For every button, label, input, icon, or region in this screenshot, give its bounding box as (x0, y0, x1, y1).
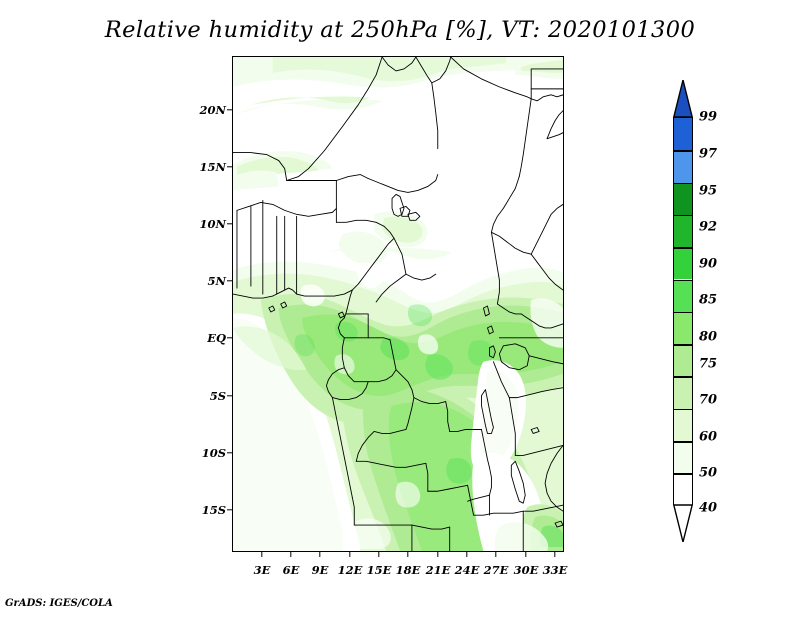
colorbar-separator (674, 150, 692, 152)
x-axis-label-3e: 3E (254, 563, 271, 577)
x-tick (261, 552, 262, 557)
x-tick (466, 552, 467, 557)
y-axis-label-10s: 10S (188, 446, 226, 460)
colorbar-label-50: 50 (699, 466, 717, 481)
x-tick (290, 552, 291, 557)
y-axis-label-15n: 15N (188, 160, 226, 174)
colorbar-band-40-50 (674, 441, 692, 473)
colorbar-separator (674, 247, 692, 249)
y-tick (227, 337, 232, 338)
colorbar-separator (674, 376, 692, 378)
y-axis-label-20n: 20N (188, 103, 226, 117)
country-borders-layer (233, 57, 563, 551)
colorbar-band-below-40 (674, 473, 692, 506)
colorbar-band-90-92 (674, 215, 692, 247)
x-axis-label-12e: 12E (338, 563, 363, 577)
x-axis-label-24e: 24E (455, 563, 480, 577)
colorbar-label-95: 95 (699, 184, 717, 199)
colorbar-band-70-75 (674, 344, 692, 376)
colorbar-separator (674, 280, 692, 282)
colorbar-band-60-70 (674, 376, 692, 408)
y-tick (227, 280, 232, 281)
y-tick (227, 223, 232, 224)
colorbar-label-60: 60 (699, 430, 717, 445)
page-title: Relative humidity at 250hPa [%], VT: 202… (0, 17, 800, 43)
x-axis-label-9e: 9E (312, 563, 329, 577)
colorbar-separator (674, 312, 692, 314)
x-axis-label-30e: 30E (514, 563, 539, 577)
attribution-footer: GrADS: IGES/COLA (5, 598, 113, 609)
colorbar-label-80: 80 (699, 330, 717, 345)
colorbar-bands (673, 117, 693, 505)
colorbar-label-85: 85 (699, 293, 717, 308)
colorbar-band-97-99 (674, 118, 692, 150)
y-axis-label-eq: EQ (188, 331, 226, 345)
y-tick (227, 395, 232, 396)
colorbar-separator (674, 215, 692, 217)
x-tick (495, 552, 496, 557)
colorbar-label-90: 90 (699, 257, 717, 272)
colorbar-min-arrow (673, 504, 693, 542)
x-axis-label-18e: 18E (396, 563, 421, 577)
colorbar-band-80-85 (674, 280, 692, 312)
colorbar-label-97: 97 (699, 147, 717, 162)
x-axis-label-27e: 27E (484, 563, 509, 577)
colorbar-label-75: 75 (699, 357, 717, 372)
colorbar-separator (674, 183, 692, 185)
x-tick (407, 552, 408, 557)
colorbar-band-75-80 (674, 312, 692, 344)
colorbar-separator (674, 473, 692, 475)
y-axis-label-5s: 5S (188, 389, 226, 403)
grads-plot-window: Relative humidity at 250hPa [%], VT: 202… (0, 0, 800, 618)
y-tick (227, 109, 232, 110)
x-tick (554, 552, 555, 557)
colorbar-band-95-97 (674, 150, 692, 182)
y-axis-label-5n: 5N (188, 274, 226, 288)
colorbar-band-92-95 (674, 183, 692, 215)
x-tick (349, 552, 350, 557)
colorbar-label-70: 70 (699, 393, 717, 408)
colorbar-label-92: 92 (699, 220, 717, 235)
x-tick (525, 552, 526, 557)
x-tick (437, 552, 438, 557)
colorbar-max-arrow (673, 80, 693, 118)
y-tick (227, 452, 232, 453)
colorbar-label-40: 40 (699, 501, 717, 516)
y-axis-label-10n: 10N (188, 217, 226, 231)
colorbar-separator (674, 344, 692, 346)
y-axis-label-15s: 15S (188, 503, 226, 517)
colorbar-separator (674, 441, 692, 443)
y-tick (227, 509, 232, 510)
x-axis-label-15e: 15E (367, 563, 392, 577)
colorbar-label-99: 99 (699, 110, 717, 125)
colorbar-band-85-90 (674, 247, 692, 279)
x-tick (378, 552, 379, 557)
map-plot-area[interactable] (232, 56, 564, 552)
x-tick (319, 552, 320, 557)
x-axis-label-33e: 33E (543, 563, 568, 577)
colorbar[interactable]: 99 97 95 92 90 85 80 75 70 60 50 40 (673, 80, 693, 542)
x-axis-label-21e: 21E (426, 563, 451, 577)
colorbar-separator (674, 409, 692, 411)
y-tick (227, 166, 232, 167)
x-axis-label-6e: 6E (283, 563, 300, 577)
colorbar-band-50-60 (674, 409, 692, 441)
